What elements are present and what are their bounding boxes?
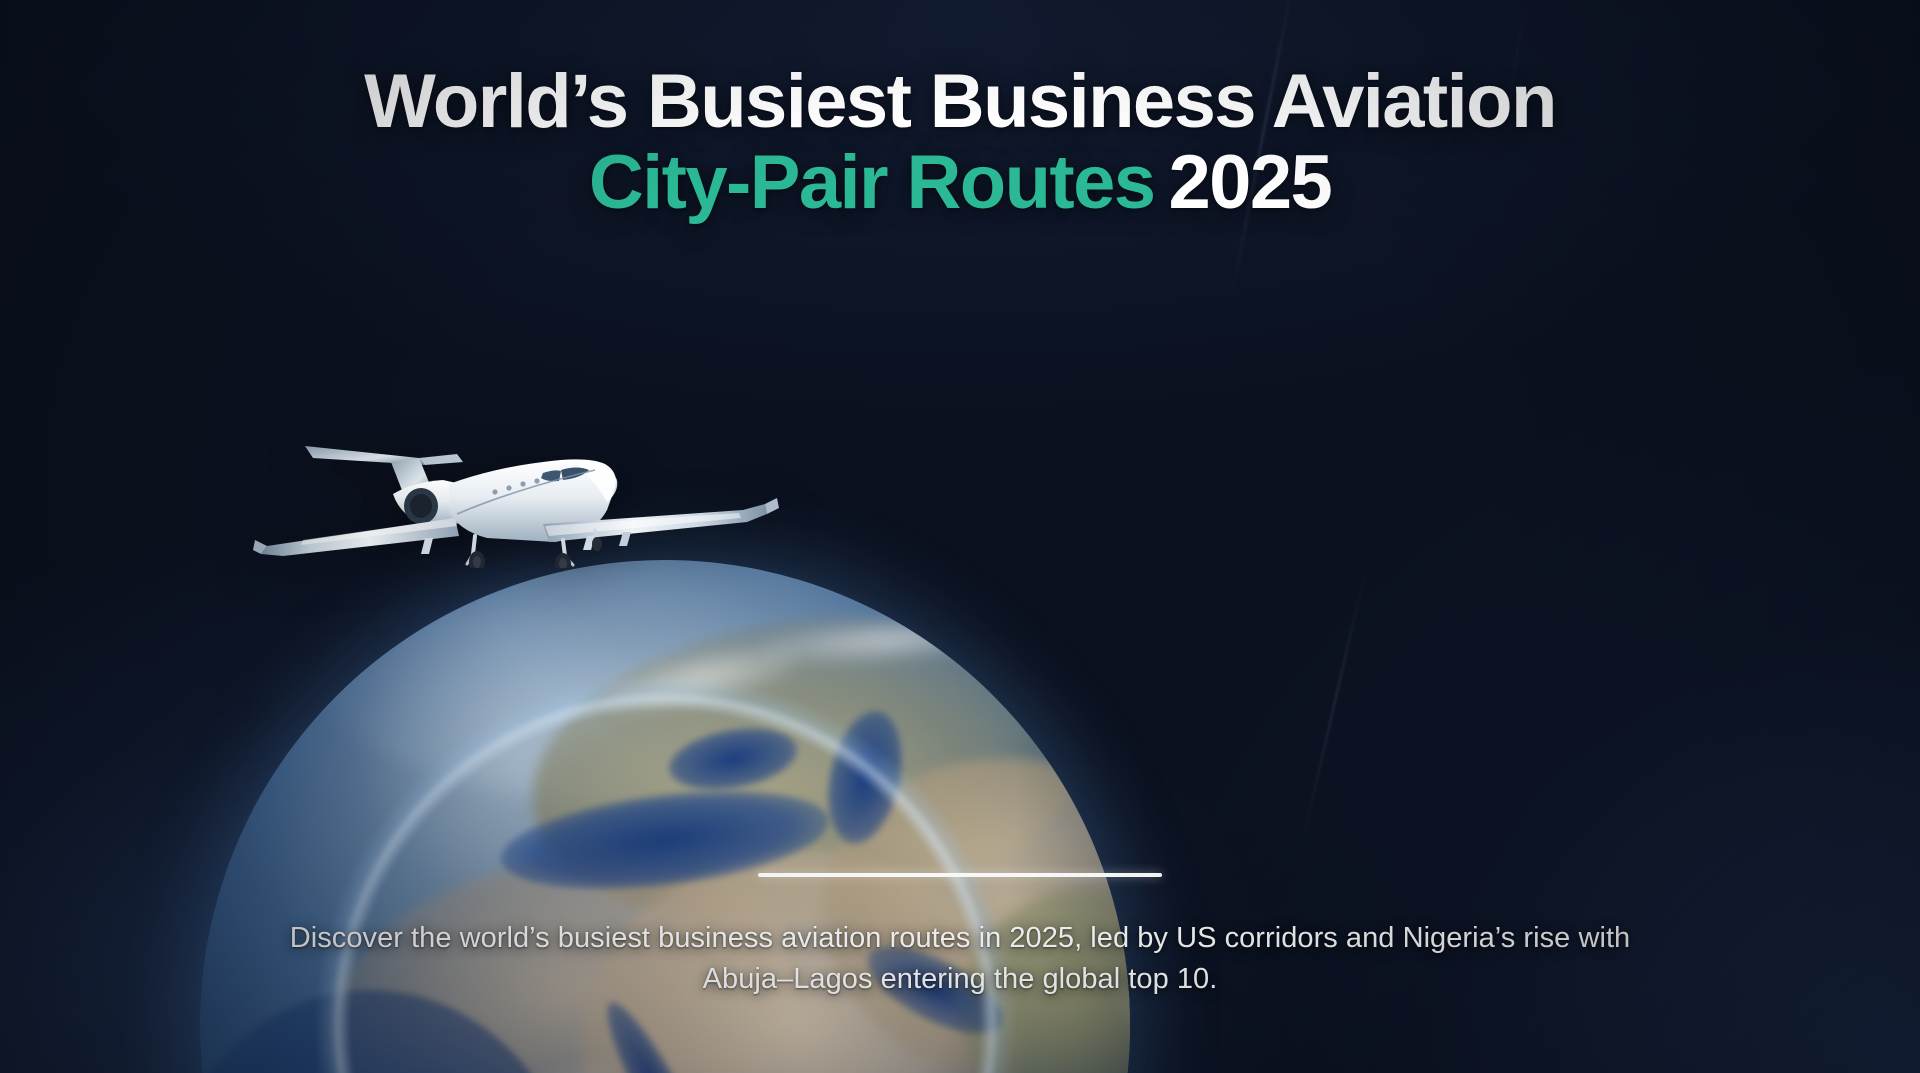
title-block: World’s Busiest Business Aviation City-P… [0, 62, 1920, 223]
landmass-eurasia [512, 582, 1108, 957]
engine-nacelle-left [393, 480, 479, 526]
light-streak-icon [1298, 564, 1367, 857]
wing-left [261, 518, 459, 556]
fuselage [449, 459, 616, 542]
cockpit-window [561, 468, 589, 481]
flap-fairing [619, 532, 631, 546]
flap-fairing [583, 536, 595, 550]
landing-gear-left [467, 536, 485, 568]
sea-red [592, 993, 730, 1073]
title-accent-text: City-Pair Routes [589, 140, 1155, 225]
landmass-central-asia [790, 720, 1130, 1073]
divider-rule [758, 873, 1162, 877]
cabin-windows [492, 478, 539, 494]
title-year-text: 2025 [1168, 140, 1331, 225]
flap-fairing [421, 538, 433, 554]
cloud-wisp [759, 611, 1021, 669]
limb-haze [320, 560, 1080, 810]
title-line-1: World’s Busiest Business Aviation [0, 62, 1920, 143]
wing-right [543, 504, 767, 542]
vignette-overlay [0, 0, 1920, 1073]
business-jet-icon [243, 418, 783, 568]
horizontal-stabilizer [305, 446, 425, 465]
sea-caspian [817, 704, 914, 851]
sea-black [664, 719, 802, 799]
cloud-wisp [449, 1048, 631, 1073]
light-streak-icon [1503, 0, 1527, 139]
landing-gear-right [555, 540, 573, 568]
ocean-atlantic [200, 990, 580, 1073]
cloud-wisp [597, 635, 803, 724]
vertical-fin [391, 458, 433, 498]
light-streak-icon [1231, 0, 1296, 297]
title-line-2: City-Pair Routes2025 [0, 143, 1920, 224]
subtitle-text: Discover the world’s busiest business av… [150, 918, 1770, 999]
engine-intake [404, 488, 438, 524]
landing-gear-nose [592, 530, 602, 551]
hero-slide: World’s Busiest Business Aviation City-P… [0, 0, 1920, 1073]
sea-mediterranean [496, 775, 835, 905]
